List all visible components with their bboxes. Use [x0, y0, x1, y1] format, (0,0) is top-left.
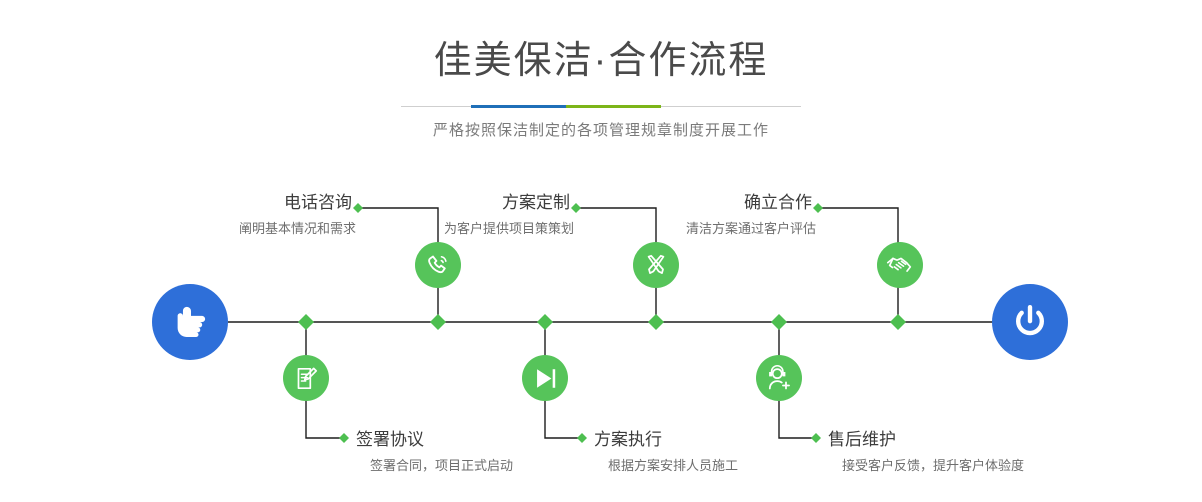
- label-diamond-6: [811, 433, 821, 443]
- divider-green-segment: [566, 105, 661, 108]
- step-title-2: 签署协议: [356, 431, 513, 448]
- step-desc-5: 清洁方案通过客户评估: [0, 222, 816, 235]
- phone-call-icon: [424, 251, 452, 279]
- step-node-4[interactable]: [522, 355, 568, 401]
- step-node-2[interactable]: [283, 355, 329, 401]
- step-desc-4: 根据方案安排人员施工: [608, 459, 738, 472]
- start-node[interactable]: [152, 284, 228, 360]
- step-node-6[interactable]: [756, 355, 802, 401]
- document-edit-icon: [293, 365, 320, 392]
- support-agent-add-icon: [765, 364, 793, 392]
- end-node[interactable]: [992, 284, 1068, 360]
- axis-diamond-5: [771, 314, 787, 330]
- timeline-diagram: 电话咨询 阐明基本情况和需求 方案定制 为客户提供项目策策划 确立合作 清洁方案…: [0, 150, 1202, 502]
- play-forward-icon: [532, 365, 559, 392]
- axis-diamond-1: [298, 314, 314, 330]
- step-label-2: 签署协议 签署合同，项目正式启动: [356, 431, 513, 472]
- label-diamonds: [339, 203, 823, 443]
- label-diamond-4: [577, 433, 587, 443]
- axis-diamond-4: [648, 314, 664, 330]
- step-label-5: 确立合作 清洁方案通过客户评估: [0, 194, 812, 235]
- page-title: 佳美保洁·合作流程: [0, 42, 1202, 80]
- step-desc-2: 签署合同，项目正式启动: [370, 459, 513, 472]
- title-divider: [401, 100, 801, 114]
- step-title-6: 售后维护: [828, 431, 1024, 448]
- handshake-icon: [885, 250, 915, 280]
- page-header: 佳美保洁·合作流程 严格按照保洁制定的各项管理规章制度开展工作: [0, 0, 1202, 138]
- step-node-3[interactable]: [633, 242, 679, 288]
- step-desc-6: 接受客户反馈，提升客户体验度: [842, 459, 1024, 472]
- divider-blue-segment: [471, 105, 566, 108]
- axis-diamond-2: [430, 314, 446, 330]
- pointing-hand-icon: [168, 300, 212, 344]
- step-title-5: 确立合作: [0, 194, 812, 211]
- step-node-1[interactable]: [415, 242, 461, 288]
- pencil-design-icon: [642, 251, 670, 279]
- step-label-4: 方案执行 根据方案安排人员施工: [594, 431, 738, 472]
- flow-infographic: 佳美保洁·合作流程 严格按照保洁制定的各项管理规章制度开展工作: [0, 0, 1202, 502]
- power-icon: [1009, 301, 1051, 343]
- axis-diamond-3: [537, 314, 553, 330]
- step-node-5[interactable]: [877, 242, 923, 288]
- label-diamond-5: [813, 203, 823, 213]
- page-subtitle: 严格按照保洁制定的各项管理规章制度开展工作: [0, 123, 1202, 138]
- label-diamond-2: [339, 433, 349, 443]
- step-label-6: 售后维护 接受客户反馈，提升客户体验度: [828, 431, 1024, 472]
- axis-diamond-6: [890, 314, 906, 330]
- step-title-4: 方案执行: [594, 431, 738, 448]
